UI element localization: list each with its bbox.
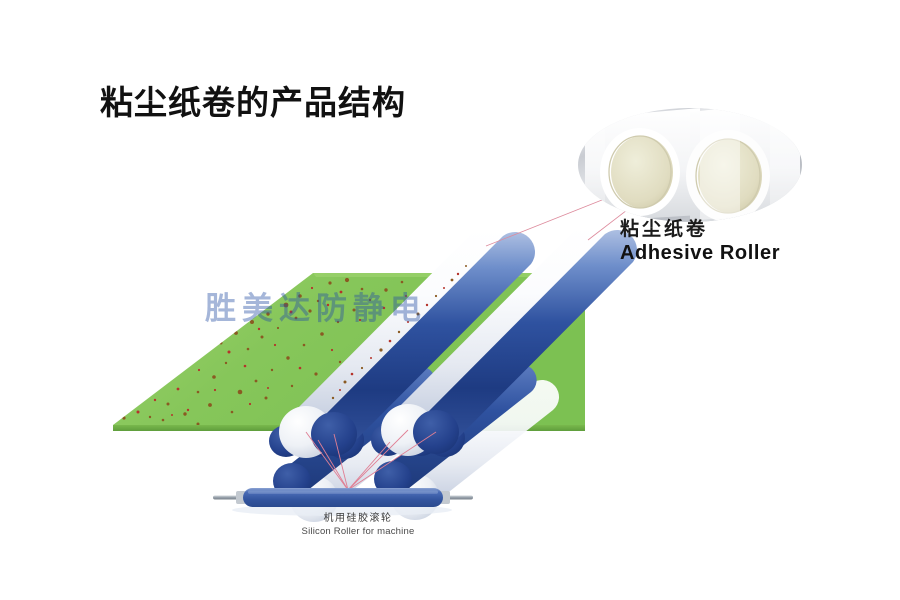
callout-label-en: Adhesive Roller xyxy=(620,242,850,266)
silicon-roller-label: 机用硅胶滚轮 Silicon Roller for machine xyxy=(238,513,478,537)
adhesive-roller-callout: 粘尘纸卷 Adhesive Roller xyxy=(620,218,850,266)
adhesive-roll-photo xyxy=(578,100,802,224)
silicon-label-cn: 机用硅胶滚轮 xyxy=(238,513,478,526)
silicon-label-en: Silicon Roller for machine xyxy=(238,526,478,538)
silicon-roller-specimen xyxy=(213,488,473,516)
page-title: 粘尘纸卷的产品结构 xyxy=(100,76,406,124)
diagram-canvas: 胜美达防静电 粘尘纸卷的产品结构 粘尘纸卷 Adhesive Roller 机用… xyxy=(0,0,900,600)
shaft-left xyxy=(213,496,239,500)
callout-label-cn: 粘尘纸卷 xyxy=(620,218,850,240)
shaft-right xyxy=(447,496,473,500)
